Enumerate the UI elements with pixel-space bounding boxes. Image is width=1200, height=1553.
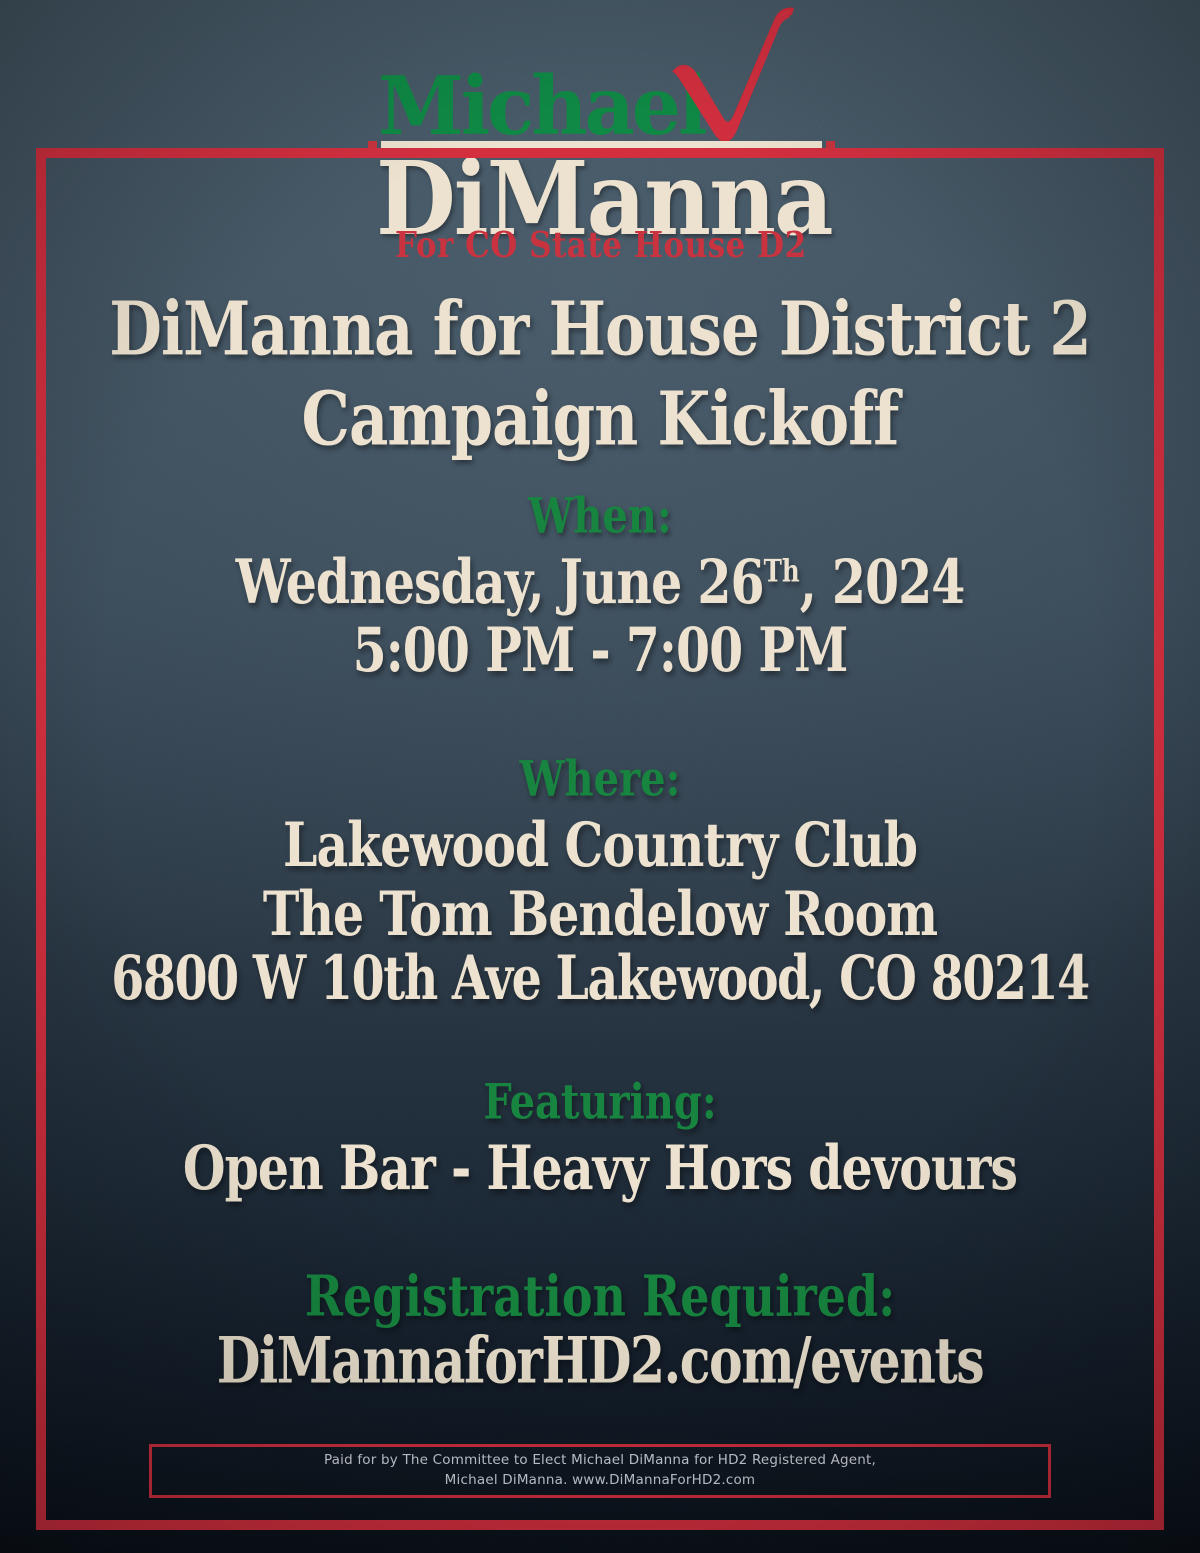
campaign-flyer: Michael DiManna For CO State House D2 Di… (0, 0, 1200, 1553)
logo-first-name: Michael (378, 66, 704, 147)
disclaimer-line-1: Paid for by The Committee to Elect Micha… (324, 1452, 876, 1468)
registration-url[interactable]: DiMannaforHD2.com/events (18, 1330, 1182, 1393)
event-date-ordinal-suffix: Th (764, 554, 800, 589)
campaign-logo: Michael DiManna For CO State House D2 (0, 0, 1200, 272)
red-check-mark-icon (668, 6, 798, 156)
featuring-label: Featuring: (0, 1078, 1200, 1127)
logo-tagline: For CO State House D2 (395, 228, 807, 264)
event-date: Wednesday, June 26Th, 2024 (12, 552, 1188, 613)
featuring-detail: Open Bar - Heavy Hors devours (12, 1138, 1188, 1199)
event-date-year: , 2024 (800, 546, 965, 618)
venue-room: The Tom Bendelow Room (12, 884, 1188, 945)
when-label: When: (0, 492, 1200, 541)
paid-for-disclaimer-box: Paid for by The Committee to Elect Micha… (149, 1444, 1051, 1498)
event-time: 5:00 PM - 7:00 PM (12, 620, 1188, 681)
registration-label: Registration Required: (0, 1268, 1200, 1324)
venue-name: Lakewood Country Club (12, 815, 1188, 876)
disclaimer-line-2: Michael DiManna. www.DiMannaForHD2.com (445, 1472, 756, 1488)
where-label: Where: (0, 755, 1200, 804)
event-date-prefix: Wednesday, June 26 (236, 546, 764, 618)
page-title-line-2: Campaign Kickoff (12, 382, 1188, 456)
page-title-line-1: DiManna for House District 2 (12, 292, 1188, 366)
venue-address: 6800 W 10th Ave Lakewood, CO 80214 (30, 948, 1170, 1009)
